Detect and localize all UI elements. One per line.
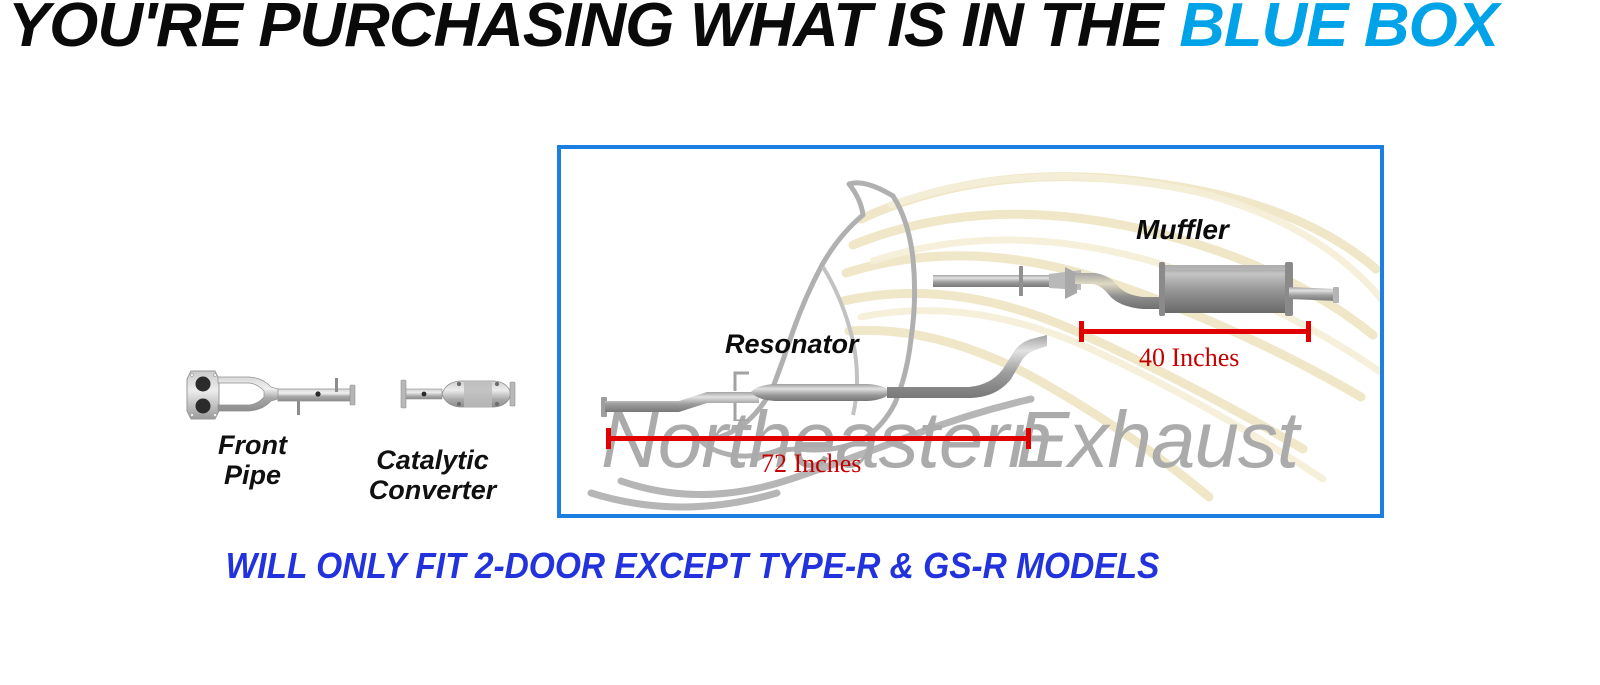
dimension-cap-right-40	[1306, 321, 1311, 342]
fitment-note: WILL ONLY FIT 2-DOOR EXCEPT TYPE-R & GS-…	[48, 545, 1336, 587]
header-banner: YOU'RE PURCHASING WHAT IS IN THE BLUE BO…	[0, 0, 1600, 60]
dimension-label-72: 72 Inches	[761, 449, 861, 479]
front-pipe-graphic	[185, 365, 360, 425]
catalytic-label-line2: Converter	[320, 475, 545, 505]
header-title-highlight: BLUE BOX	[1179, 0, 1498, 60]
dimension-line-40	[1079, 329, 1311, 334]
muffler-graphic	[1061, 253, 1351, 323]
header-title: YOU'RE PURCHASING WHAT IS IN THE BLUE BO…	[8, 0, 1498, 58]
catalytic-converter-graphic	[398, 370, 518, 418]
catalytic-label-line1: Catalytic	[320, 445, 545, 475]
muffler-label: Muffler	[1136, 214, 1229, 246]
blue-box-highlight-region: Northeastern Exhaust	[557, 145, 1384, 518]
header-title-plain: YOU'RE PURCHASING WHAT IS IN THE	[8, 0, 1179, 60]
catalytic-converter-label: Catalytic Converter	[320, 445, 545, 505]
dimension-cap-left-72	[606, 428, 611, 449]
dimension-cap-left-40	[1079, 321, 1084, 342]
resonator-label: Resonator	[725, 329, 859, 360]
listing-image-canvas: YOU'RE PURCHASING WHAT IS IN THE BLUE BO…	[0, 0, 1600, 685]
dimension-cap-right-72	[1026, 428, 1031, 449]
dimension-label-40: 40 Inches	[1139, 343, 1239, 373]
dimension-line-72	[606, 436, 1031, 441]
watermark-exhaust: Exhaust	[1016, 394, 1298, 486]
